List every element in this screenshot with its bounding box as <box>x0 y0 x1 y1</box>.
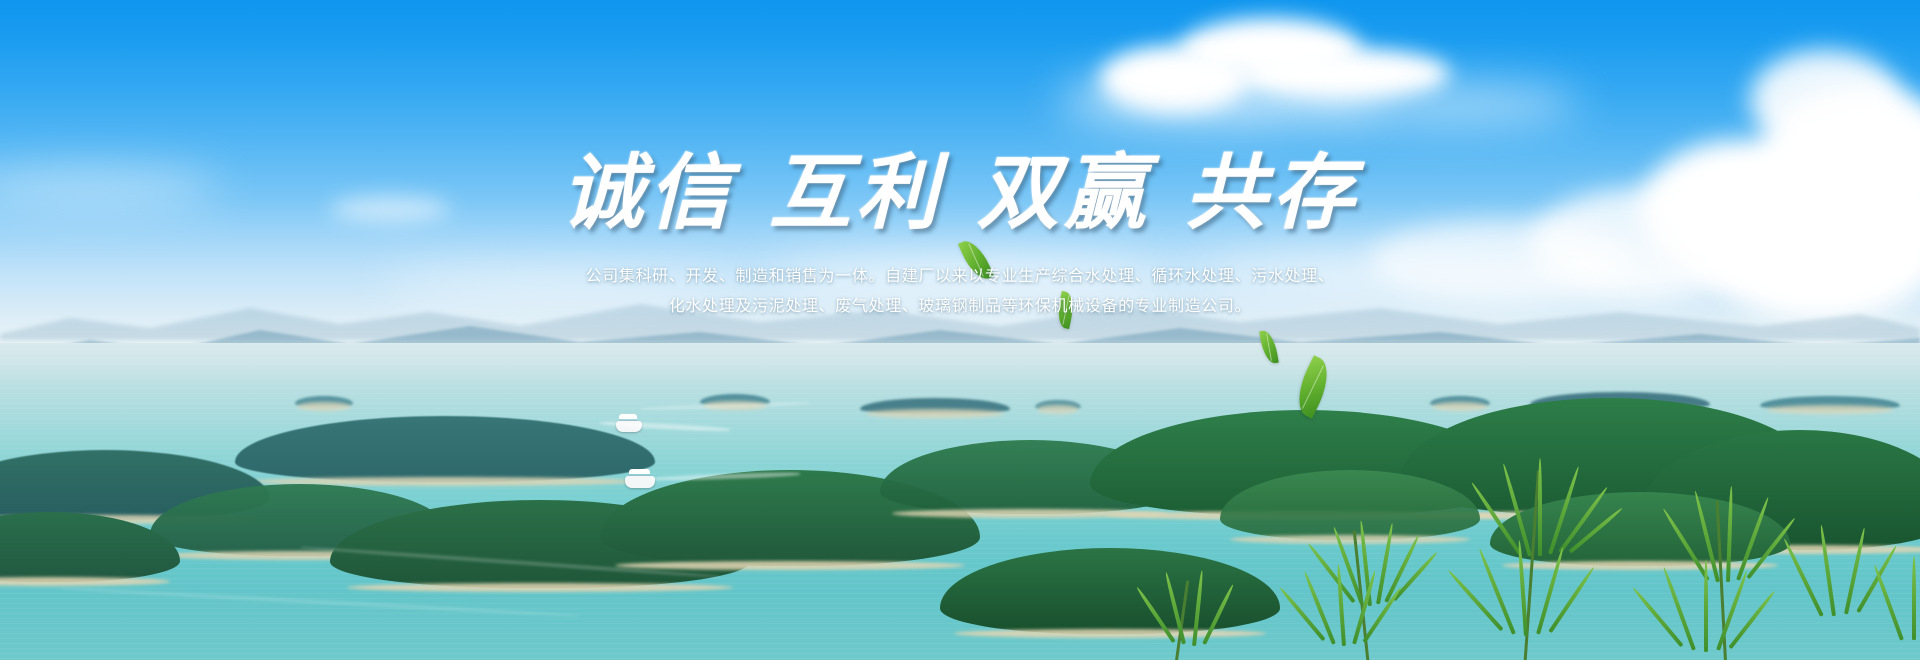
headline-word-1: 诚信 <box>561 145 735 241</box>
hero-banner: 诚信互利双赢共存 公司集科研、开发、制造和销售为一体。自建厂以来以专业生产综合水… <box>0 0 1920 660</box>
headline-word-4: 共存 <box>1185 145 1359 241</box>
banner-description: 公司集科研、开发、制造和销售为一体。自建厂以来以专业生产综合水处理、循环水处理、… <box>0 262 1920 322</box>
banner-description-line-1: 公司集科研、开发、制造和销售为一体。自建厂以来以专业生产综合水处理、循环水处理、… <box>0 262 1920 292</box>
headline-word-3: 双赢 <box>977 145 1151 241</box>
headline-word-2: 互利 <box>769 145 943 241</box>
pine-foreground <box>1060 410 1920 660</box>
ferry-boat-upper <box>616 410 642 432</box>
banner-description-line-2: 化水处理及污泥处理、废气处理、玻璃钢制品等环保机械设备的专业制造公司。 <box>0 292 1920 322</box>
page-title: 诚信互利双赢共存 <box>0 152 1920 234</box>
ferry-boat-lower <box>625 464 655 488</box>
